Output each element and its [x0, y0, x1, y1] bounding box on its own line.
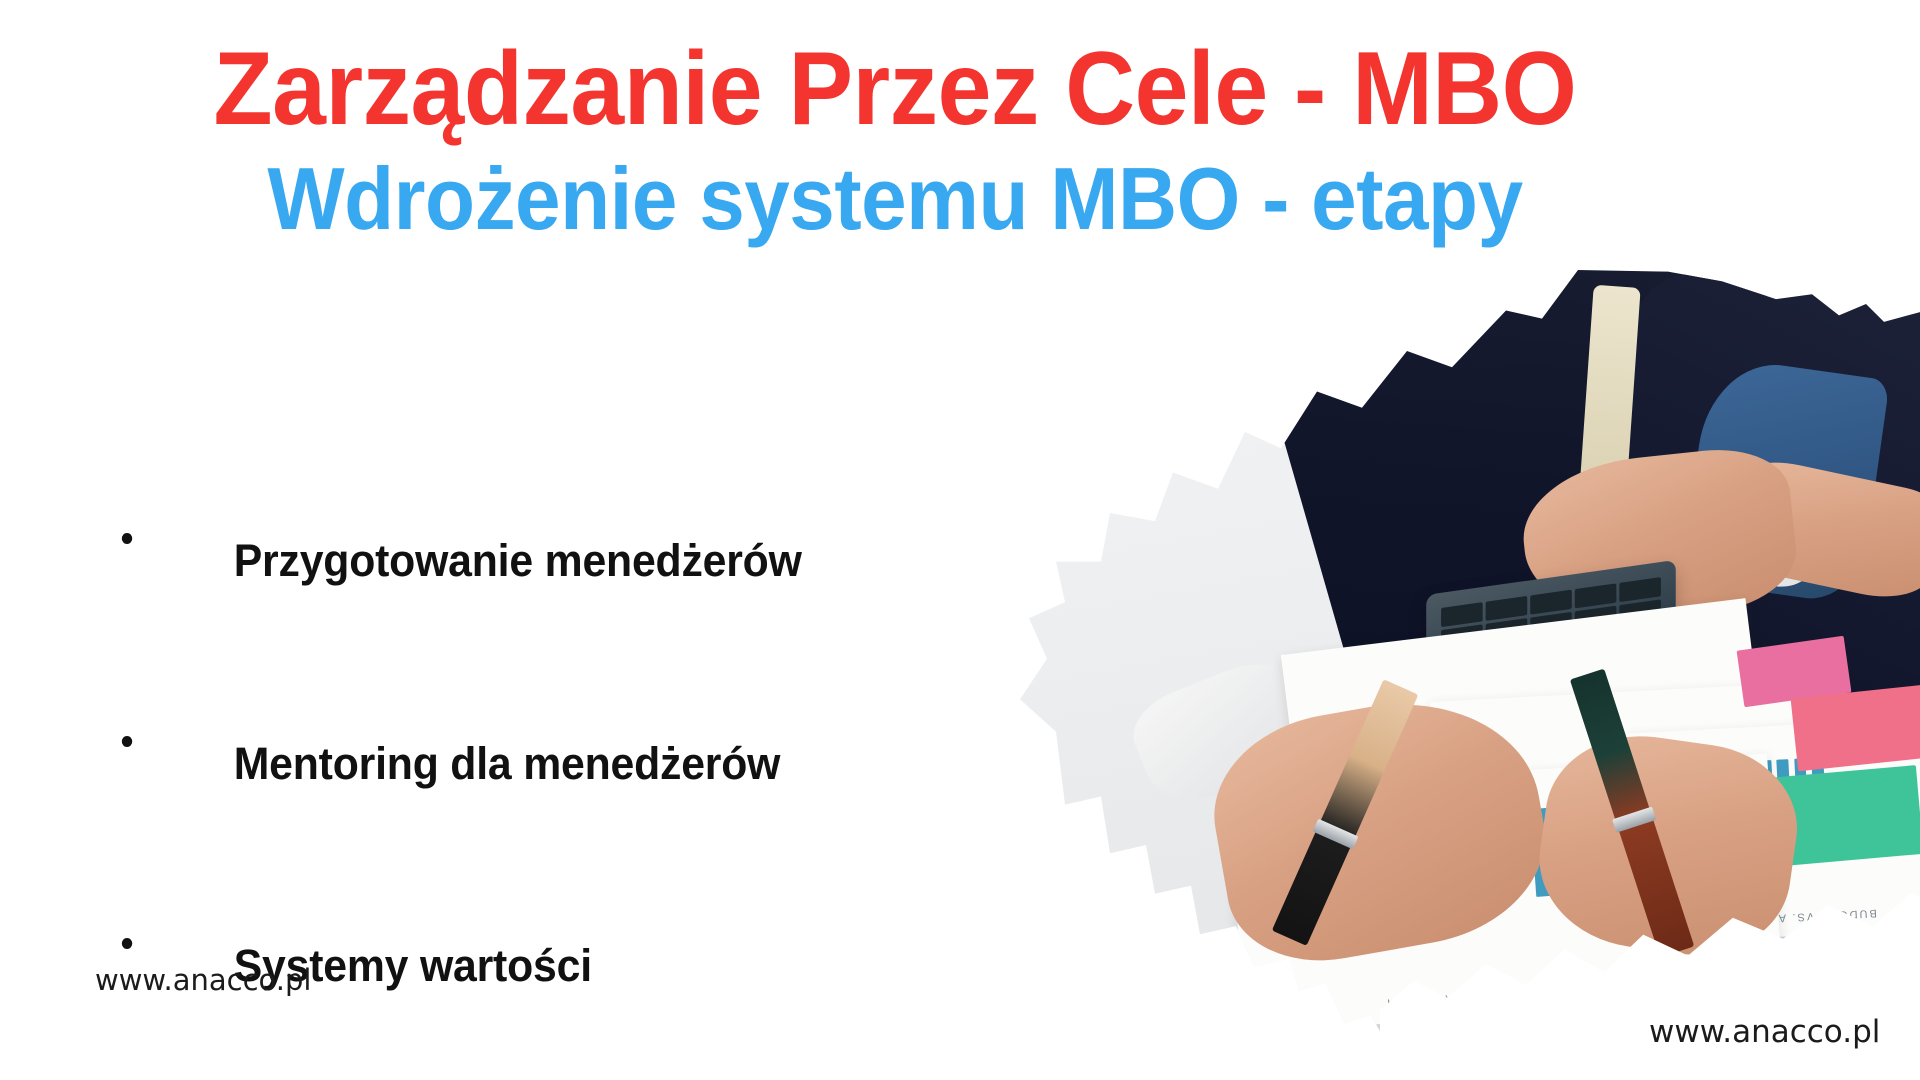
bullet-dot-icon	[122, 533, 132, 544]
list-item: Przygotowanie menedżerów	[118, 448, 802, 628]
list-item-label: Mentoring dla menedżerów	[234, 738, 781, 789]
list-item: Rozmowy rozwojowe	[118, 1056, 802, 1080]
title-block: Zarządzanie Przez Cele - MBO Wdrożenie s…	[0, 34, 1790, 249]
bullet-dot-icon	[122, 736, 132, 747]
list-item-label: Przygotowanie menedżerów	[234, 535, 802, 586]
site-url-left[interactable]: www.anacco.pl	[95, 963, 311, 997]
bullet-dot-icon	[122, 938, 132, 949]
list-item: Mentoring dla menedżerów	[118, 651, 802, 831]
sticky-note-pink	[1791, 684, 1920, 772]
slide-canvas: Zarządzanie Przez Cele - MBO Wdrożenie s…	[0, 0, 1920, 1080]
list-item: Systemy wartości	[118, 853, 802, 1033]
site-url-right[interactable]: www.anacco.pl	[1649, 1014, 1880, 1050]
page-title: Zarządzanie Przez Cele - MBO	[63, 34, 1728, 144]
page-subtitle: Wdrożenie systemu MBO - etapy	[63, 150, 1728, 249]
